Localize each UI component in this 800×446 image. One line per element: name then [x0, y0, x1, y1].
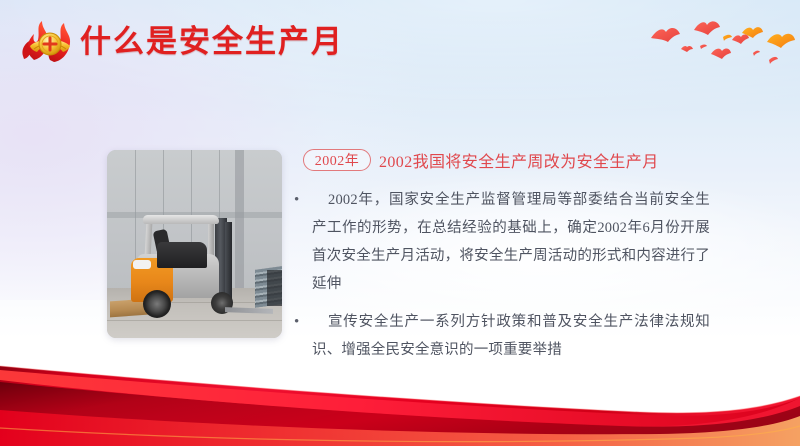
forklift-in-warehouse-photo: [107, 150, 282, 338]
page-title: 什么是安全生产月: [80, 26, 344, 57]
slide-title-row: 什么是安全生产月: [18, 12, 344, 70]
year-badge: 2002年: [303, 149, 371, 171]
bullet-marker-icon: •: [292, 308, 312, 336]
safety-production-emblem-icon: [18, 16, 84, 66]
headline-row: 2002年 2002我国将安全生产周改为安全生产月: [303, 148, 659, 172]
list-item: • 2002年，国家安全生产监督管理局等部委结合当前安全生产工作的形势，在总结经…: [292, 186, 710, 298]
bullet-marker-icon: •: [292, 186, 312, 214]
slide-canvas: 什么是安全生产月: [0, 0, 800, 446]
red-wave-ribbon-icon: [0, 336, 800, 446]
flying-birds-decoration-icon: [645, 14, 795, 86]
bullet-text: 2002年，国家安全生产监督管理局等部委结合当前安全生产工作的形势，在总结经验的…: [312, 186, 710, 298]
headline-text: 2002我国将安全生产周改为安全生产月: [379, 148, 659, 172]
